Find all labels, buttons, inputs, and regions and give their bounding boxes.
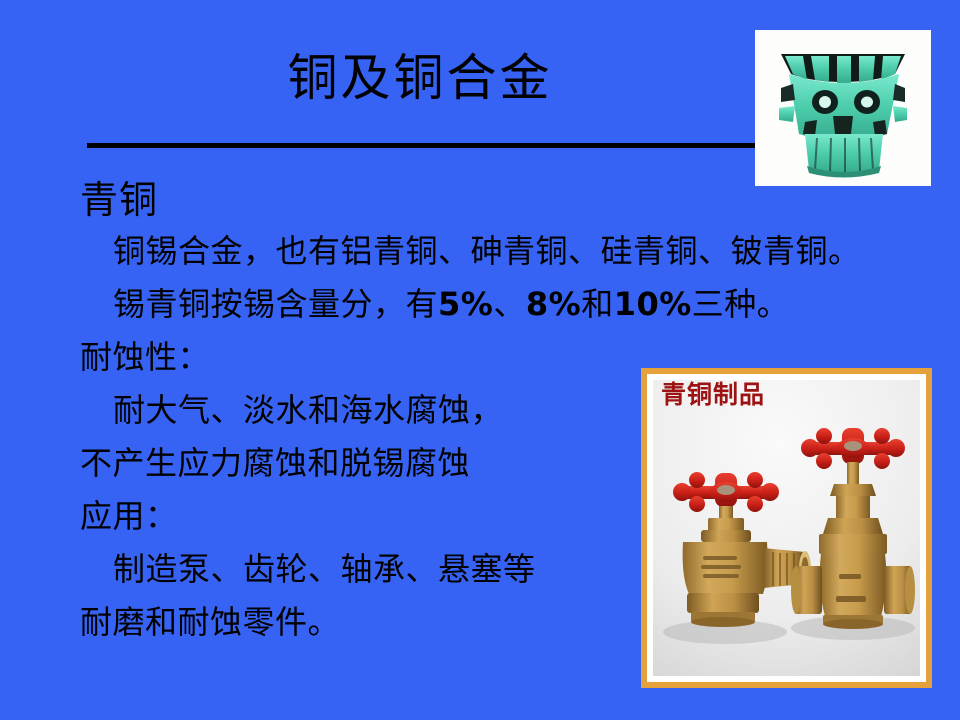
- bronze-vessel-image: [755, 30, 931, 186]
- slide: 铜及铜合金 青铜 铜锡合金，也有铝青铜、砷青铜、硅青铜、铍青铜。 锡青铜按锡含量…: [0, 0, 960, 720]
- bullet-tin-content-text: 锡青铜按锡含量分，有5%、8%和10%三种。: [113, 285, 789, 323]
- bronze-valves-photo: [653, 380, 920, 676]
- page-title: 铜及铜合金: [80, 48, 760, 108]
- bullet-tin-content: 锡青铜按锡含量分，有5%、8%和10%三种。: [0, 278, 960, 331]
- bronze-valves-artwork: [653, 380, 920, 676]
- title-divider: [87, 143, 756, 148]
- bullet-alloy-types: 铜锡合金，也有铝青铜、砷青铜、硅青铜、铍青铜。: [0, 225, 960, 278]
- bronze-vessel-artwork: [755, 30, 931, 186]
- valve-image-caption: 青铜制品: [661, 380, 765, 410]
- bronze-valves-image: 青铜制品: [641, 368, 932, 688]
